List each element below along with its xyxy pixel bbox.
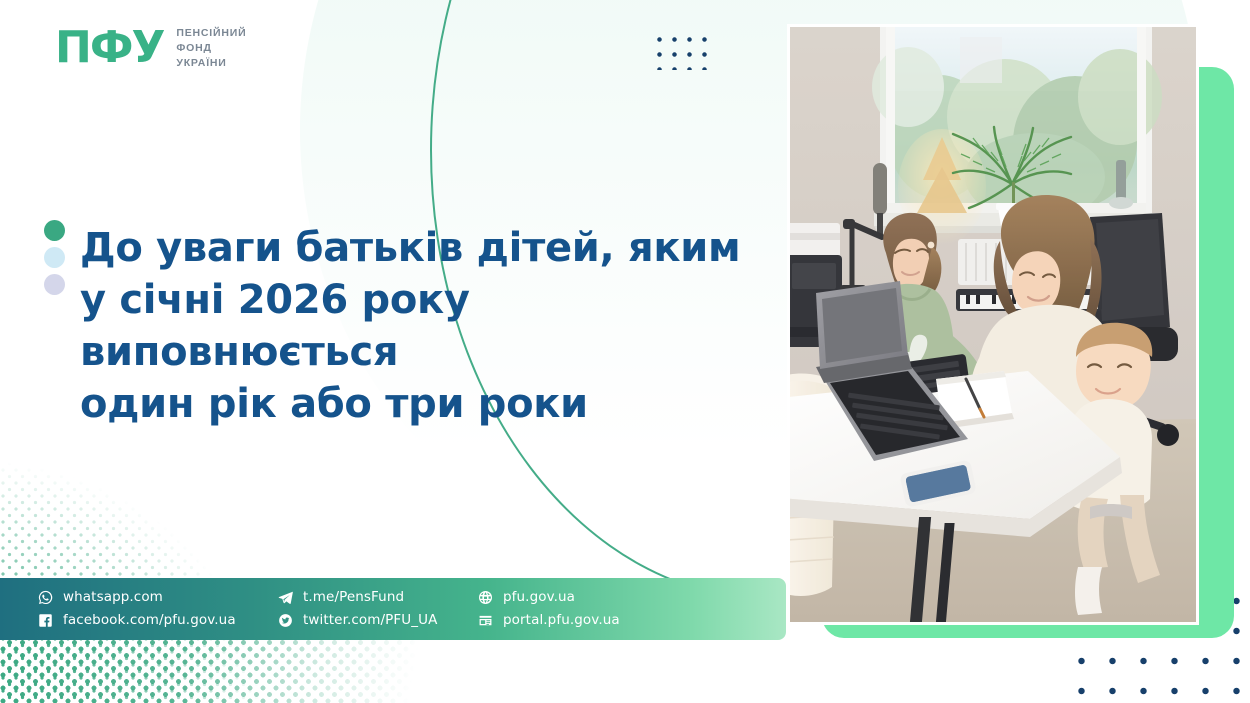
contact-website[interactable]: pfu.gov.ua — [478, 590, 786, 605]
contact-facebook-label: facebook.com/pfu.gov.ua — [63, 614, 236, 628]
contact-twitter-label: twitter.com/PFU_UA — [303, 614, 437, 628]
twitter-icon — [278, 613, 293, 628]
portal-icon — [478, 613, 493, 628]
contact-telegram-label: t.me/PensFund — [303, 591, 404, 605]
logo-subtitle-line-2: Фонд — [176, 42, 246, 55]
contact-facebook[interactable]: facebook.com/pfu.gov.ua — [38, 613, 278, 628]
whatsapp-icon — [38, 590, 53, 605]
accent-dot-purple — [44, 274, 65, 295]
telegram-icon — [278, 590, 293, 605]
pfu-logo-subtitle: Пенсійний Фонд України — [176, 25, 246, 70]
facebook-icon — [38, 613, 53, 628]
contact-portal-label: portal.pfu.gov.ua — [503, 614, 620, 628]
contact-whatsapp-label: whatsapp.com — [63, 591, 163, 605]
hero-photo: Les Petites — [790, 27, 1196, 622]
contact-website-label: pfu.gov.ua — [503, 591, 575, 605]
dot-grid-top-decoration — [652, 32, 716, 70]
accent-dot-green — [44, 220, 65, 241]
logo-subtitle-line-1: Пенсійний — [176, 27, 246, 40]
poster-canvas: ПФУ Пенсійний Фонд України До уваги бать… — [0, 0, 1250, 703]
halftone-pattern-bottom-edge — [0, 636, 420, 703]
contact-whatsapp[interactable]: whatsapp.com — [38, 590, 278, 605]
globe-icon — [478, 590, 493, 605]
contact-twitter[interactable]: twitter.com/PFU_UA — [278, 613, 478, 628]
page-title: До уваги батьків дітей, яким у січні 202… — [80, 222, 780, 430]
hero-photo-illustration: Les Petites — [790, 27, 1196, 622]
accent-dot-stack — [44, 220, 65, 295]
pfu-logo-mark: ПФУ — [55, 26, 163, 70]
contact-portal[interactable]: portal.pfu.gov.ua — [478, 613, 786, 628]
halftone-pattern-bottom-left — [0, 418, 470, 703]
contact-bar: whatsapp.com t.me/PensFund pfu.gov.ua fa… — [0, 578, 786, 640]
logo-subtitle-line-3: України — [176, 57, 246, 70]
accent-dot-blue — [44, 247, 65, 268]
pfu-logo: ПФУ Пенсійний Фонд України — [55, 25, 246, 70]
contact-telegram[interactable]: t.me/PensFund — [278, 590, 478, 605]
